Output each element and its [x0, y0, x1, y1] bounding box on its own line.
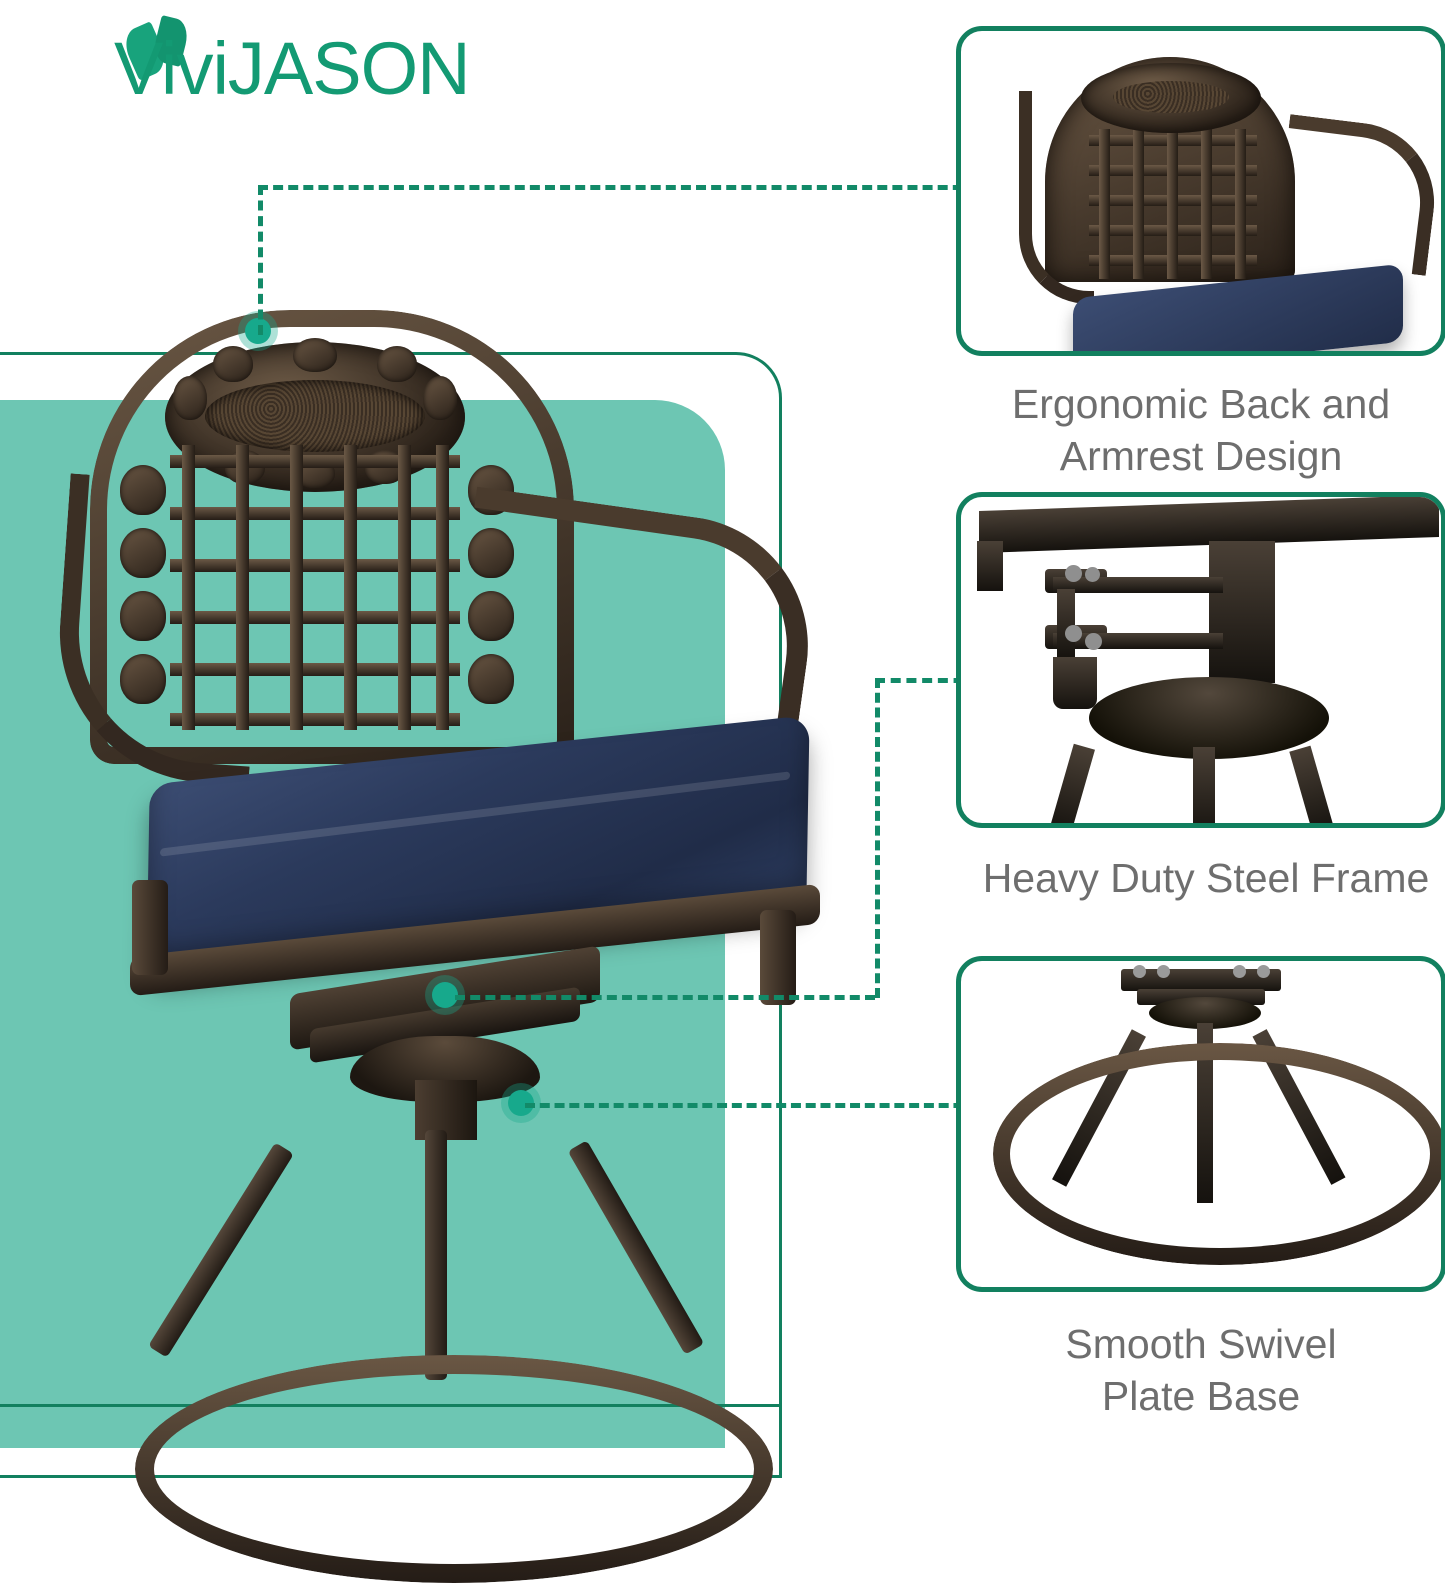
feature-caption-ergonomic-back-armrest: Ergonomic Back and Armrest Design	[956, 378, 1445, 482]
base-spoke-center	[425, 1130, 447, 1380]
brand-logo: ViviJASON	[62, 18, 532, 110]
chair-leg-front-right	[760, 910, 796, 1005]
caption-line-1: Heavy Duty Steel Frame	[956, 852, 1445, 904]
hero-product-image	[60, 280, 820, 1370]
brand-name: ViviJASON	[114, 26, 470, 111]
feature-panel-smooth-swivel-plate-base[interactable]	[956, 956, 1445, 1292]
caption-line-1: Ergonomic Back and	[956, 378, 1445, 430]
base-spoke-left	[148, 1142, 294, 1357]
brand-name-part1: Vivi	[114, 27, 228, 110]
caption-line-1: Smooth Swivel	[956, 1318, 1445, 1370]
panel-3-artwork	[961, 961, 1441, 1287]
feature-caption-heavy-duty-steel-frame: Heavy Duty Steel Frame	[956, 852, 1445, 904]
base-spoke-right	[568, 1140, 705, 1355]
chair-armrest-left	[50, 473, 269, 785]
panel-2-artwork	[961, 497, 1441, 823]
caption-line-2: Armrest Design	[956, 430, 1445, 482]
feature-caption-smooth-swivel-plate-base: Smooth Swivel Plate Base	[956, 1318, 1445, 1422]
panel-1-artwork	[961, 31, 1441, 351]
feature-panel-ergonomic-back-armrest[interactable]	[956, 26, 1445, 356]
brand-name-part2: JASON	[228, 27, 470, 110]
caption-line-2: Plate Base	[956, 1370, 1445, 1422]
feature-panel-heavy-duty-steel-frame[interactable]	[956, 492, 1445, 828]
swivel-base-ring	[135, 1355, 773, 1583]
chair-leg-front-left	[132, 880, 168, 975]
